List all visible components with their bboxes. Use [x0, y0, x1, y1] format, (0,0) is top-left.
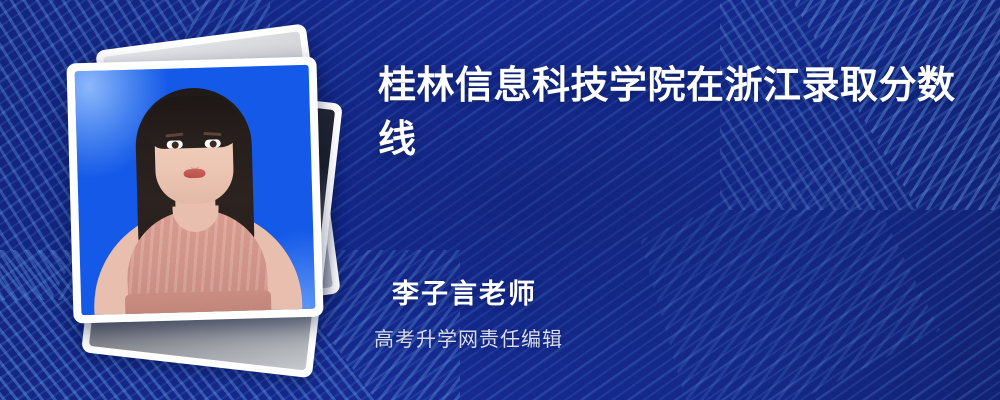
photo-card-front: [66, 57, 323, 324]
headline-block: 桂林信息科技学院在浙江录取分数线: [378, 60, 978, 168]
article-hero-banner: 桂林信息科技学院在浙江录取分数线 李子言老师 高考升学网责任编辑: [0, 0, 1000, 400]
portrait-photo-stack: [52, 28, 352, 358]
author-role: 高考升学网责任编辑: [374, 323, 952, 352]
avatar: [75, 65, 316, 315]
byline-block: 李子言老师 高考升学网责任编辑: [392, 272, 952, 352]
author-name: 李子言老师: [392, 272, 952, 311]
page-title: 桂林信息科技学院在浙江录取分数线: [378, 60, 978, 168]
portrait-photo-icon: [75, 65, 316, 315]
